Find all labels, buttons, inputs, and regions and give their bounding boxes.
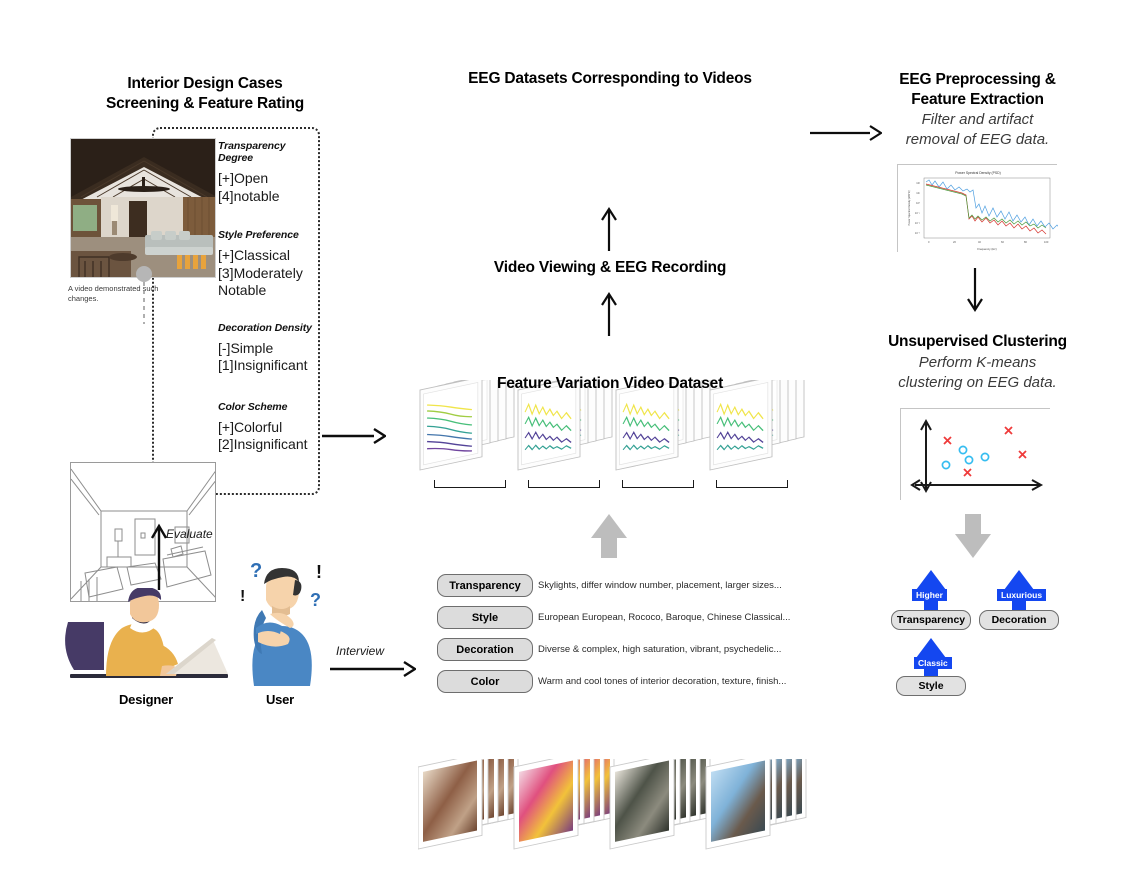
interior-photo: [70, 138, 216, 278]
feature-pill-transparency[interactable]: Transparency: [437, 574, 533, 597]
svg-text:10⁻²: 10⁻²: [915, 221, 920, 225]
svg-text:10¹: 10¹: [916, 191, 920, 195]
feature-rating: [1]Insignificant: [218, 357, 322, 375]
feature-desc-style: European European, Rococo, Baroque, Chin…: [538, 606, 790, 629]
feature-item: Transparency Degree [+]Open [4]notable: [218, 140, 322, 205]
clustering-title: Unsupervised Clustering: [870, 332, 1085, 352]
result-pill-style[interactable]: Style: [896, 676, 966, 696]
interior-photo-render: [71, 139, 216, 278]
timeline-slider-handle[interactable]: [136, 266, 152, 282]
evaluate-label: Evaluate: [142, 527, 222, 541]
preprocessing-subtitle-line1: Filter and artifact: [870, 110, 1085, 130]
video-viewing-title: Video Viewing & EEG Recording: [440, 258, 780, 278]
eeg-dataset-title: EEG Datasets Corresponding to Videos: [410, 69, 810, 89]
feature-label: Decoration Density: [218, 322, 322, 334]
designer-illustration: [62, 588, 230, 686]
feature-label: Style Preference: [218, 229, 322, 241]
svg-text:10⁻¹: 10⁻¹: [915, 211, 920, 215]
feature-desc-transparency: Skylights, differ window number, placeme…: [538, 574, 782, 597]
arrow-recording-up-upper: [598, 203, 620, 251]
left-panel-title: Interior Design Cases Screening & Featur…: [60, 74, 350, 114]
psd-chart-title: Power Spectral Density (PSD): [955, 171, 1000, 175]
feature-rating: [2]Insignificant: [218, 436, 322, 454]
video-caption: A video demonstrated such changes.: [68, 284, 164, 303]
video-stack-group: [418, 759, 808, 869]
photo-sketch-connector: [140, 282, 148, 324]
thought-mark-question-2: ?: [310, 590, 321, 611]
user-illustration: [232, 566, 328, 686]
arrow-cases-to-videos: [322, 425, 386, 447]
psd-ylabel: Power Spectral Density (dB/Hz): [908, 190, 911, 225]
clustering-subtitle-line1: Perform K-means: [870, 353, 1085, 373]
user-label: User: [232, 690, 328, 710]
cluster-scatter-chart: [900, 408, 1050, 500]
interview-label: Interview: [336, 644, 384, 658]
feature-desc-color: Warm and cool tones of interior decorati…: [538, 670, 786, 693]
eeg-stack-group: [418, 380, 808, 475]
result-tag-style: Classic: [914, 657, 952, 669]
thought-mark-question-1: ?: [250, 560, 262, 583]
feature-label: Color Scheme: [218, 401, 322, 413]
feature-item: Style Preference [+]Classical [3]Moderat…: [218, 229, 322, 300]
feature-pill-decoration[interactable]: Decoration: [437, 638, 533, 661]
video-bracket-4: [716, 480, 788, 488]
feature-pill-row-1: Transparency: [437, 574, 533, 597]
video-bracket-2: [528, 480, 600, 488]
preprocessing-subtitle-line2: removal of EEG data.: [870, 130, 1085, 150]
svg-text:100: 100: [1044, 240, 1049, 244]
result-tag-decoration: Luxurious: [997, 589, 1046, 601]
feature-polarity: [+]Colorful: [218, 419, 322, 437]
preprocessing-title: EEG Preprocessing & Feature Extraction: [870, 70, 1085, 110]
feature-polarity: [+]Open: [218, 170, 322, 188]
svg-text:10⁻³: 10⁻³: [915, 231, 920, 235]
feature-rating: [4]notable: [218, 188, 322, 206]
feature-desc-decoration: Diverse & complex, high saturation, vibr…: [538, 638, 781, 661]
feature-polarity: [-]Simple: [218, 340, 322, 358]
svg-text:10²: 10²: [916, 181, 920, 185]
left-panel-title-line1: Interior Design Cases: [60, 74, 350, 94]
feature-item: Color Scheme [+]Colorful [2]Insignifican…: [218, 401, 322, 454]
feature-pill-color[interactable]: Color: [437, 670, 533, 693]
feature-rating-list: Transparency Degree [+]Open [4]notable S…: [218, 140, 322, 454]
result-pill-transparency[interactable]: Transparency: [891, 610, 971, 630]
video-bracket-1: [434, 480, 506, 488]
feature-pill-row-2: Style: [437, 606, 533, 629]
psd-chart-render: Power Spectral Density (PSD) 10² 10¹ 10⁰…: [898, 165, 1058, 253]
preprocessing-title-line1: EEG Preprocessing &: [870, 70, 1085, 90]
thought-mark-exclaim-2: !: [240, 588, 245, 606]
feature-pill-row-4: Color: [437, 670, 533, 693]
arrow-clustering-to-results: [952, 512, 994, 560]
feature-pill-row-3: Decoration: [437, 638, 533, 661]
arrow-features-to-videos: [588, 512, 630, 560]
cluster-scatter-render: [901, 409, 1051, 501]
clustering-subtitle-line2: clustering on EEG data.: [870, 373, 1085, 393]
designer-label: Designer: [62, 690, 230, 710]
preprocessing-subtitle: Filter and artifact removal of EEG data.: [870, 110, 1085, 150]
clustering-subtitle: Perform K-means clustering on EEG data.: [870, 353, 1085, 393]
video-dataset-title: Feature Variation Video Dataset: [420, 374, 800, 394]
arrow-recording-up-lower: [598, 288, 620, 336]
result-pill-decoration[interactable]: Decoration: [979, 610, 1059, 630]
feature-label: Transparency Degree: [218, 140, 322, 164]
left-panel-title-line2: Screening & Feature Rating: [60, 94, 350, 114]
feature-pill-style[interactable]: Style: [437, 606, 533, 629]
preprocessing-title-line2: Feature Extraction: [870, 90, 1085, 110]
eeg-stacks-render: [418, 380, 808, 475]
feature-polarity: [+]Classical: [218, 247, 322, 265]
psd-chart: Power Spectral Density (PSD) 10² 10¹ 10⁰…: [897, 164, 1057, 252]
feature-rating: [3]Moderately Notable: [218, 265, 322, 300]
psd-xlabel: Frequency (Hz): [977, 247, 996, 251]
feature-item: Decoration Density [-]Simple [1]Insignif…: [218, 322, 322, 375]
video-stacks-render: [418, 759, 808, 869]
arrow-preprocessing-to-clustering: [964, 268, 986, 316]
arrow-interview: [330, 658, 416, 680]
thought-mark-exclaim-1: !: [316, 562, 322, 583]
video-bracket-3: [622, 480, 694, 488]
result-tag-transparency: Higher: [912, 589, 947, 601]
